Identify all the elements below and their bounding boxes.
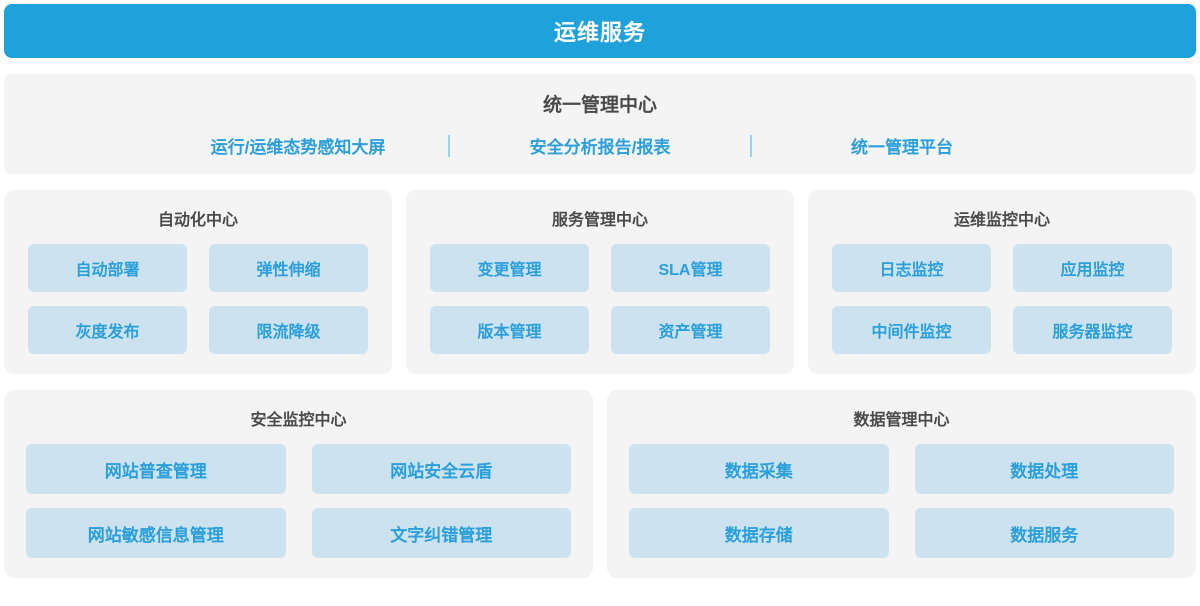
chip-data-processing[interactable]: 数据处理	[915, 444, 1175, 494]
unified-management-title: 统一管理中心	[543, 90, 657, 117]
card-title: 运维监控中心	[832, 206, 1172, 230]
chip-website-sensitive-info-management[interactable]: 网站敏感信息管理	[26, 508, 286, 558]
secondary-center-row: 安全监控中心 网站普查管理 网站安全云盾 网站敏感信息管理 文字纠错管理 数据管…	[4, 390, 1196, 578]
chip-data-collection[interactable]: 数据采集	[629, 444, 889, 494]
chip-version-management[interactable]: 版本管理	[430, 306, 589, 354]
unified-link-security-report[interactable]: 安全分析报告/报表	[450, 133, 750, 158]
chip-data-service[interactable]: 数据服务	[915, 508, 1175, 558]
chip-auto-deploy[interactable]: 自动部署	[28, 244, 187, 292]
unified-management-banner: 统一管理中心 运行/运维态势感知大屏 安全分析报告/报表 统一管理平台	[4, 74, 1196, 174]
chip-server-monitoring[interactable]: 服务器监控	[1013, 306, 1172, 354]
card-title: 安全监控中心	[26, 406, 571, 430]
unified-link-management-platform[interactable]: 统一管理平台	[752, 133, 1052, 158]
chip-website-security-cloud-shield[interactable]: 网站安全云盾	[312, 444, 572, 494]
chip-gray-release[interactable]: 灰度发布	[28, 306, 187, 354]
chip-grid: 网站普查管理 网站安全云盾 网站敏感信息管理 文字纠错管理	[26, 444, 571, 558]
chip-grid: 自动部署 弹性伸缩 灰度发布 限流降级	[28, 244, 368, 354]
unified-link-situation-dashboard[interactable]: 运行/运维态势感知大屏	[148, 133, 448, 158]
page-header: 运维服务	[4, 4, 1196, 58]
page-title: 运维服务	[554, 15, 646, 47]
chip-website-census-management[interactable]: 网站普查管理	[26, 444, 286, 494]
chip-grid: 变更管理 SLA管理 版本管理 资产管理	[430, 244, 770, 354]
chip-log-monitoring[interactable]: 日志监控	[832, 244, 991, 292]
card-ops-monitoring-center: 运维监控中心 日志监控 应用监控 中间件监控 服务器监控	[808, 190, 1196, 374]
chip-rate-limit-degrade[interactable]: 限流降级	[209, 306, 368, 354]
chip-grid: 数据采集 数据处理 数据存储 数据服务	[629, 444, 1174, 558]
chip-middleware-monitoring[interactable]: 中间件监控	[832, 306, 991, 354]
card-service-management-center: 服务管理中心 变更管理 SLA管理 版本管理 资产管理	[406, 190, 794, 374]
chip-text-correction-management[interactable]: 文字纠错管理	[312, 508, 572, 558]
chip-data-storage[interactable]: 数据存储	[629, 508, 889, 558]
unified-management-links: 运行/运维态势感知大屏 安全分析报告/报表 统一管理平台	[4, 133, 1196, 158]
card-automation-center: 自动化中心 自动部署 弹性伸缩 灰度发布 限流降级	[4, 190, 392, 374]
chip-sla-management[interactable]: SLA管理	[611, 244, 770, 292]
card-data-management-center: 数据管理中心 数据采集 数据处理 数据存储 数据服务	[607, 390, 1196, 578]
ops-service-architecture-page: 运维服务 统一管理中心 运行/运维态势感知大屏 安全分析报告/报表 统一管理平台…	[0, 4, 1200, 606]
card-security-monitoring-center: 安全监控中心 网站普查管理 网站安全云盾 网站敏感信息管理 文字纠错管理	[4, 390, 593, 578]
card-title: 服务管理中心	[430, 206, 770, 230]
primary-center-row: 自动化中心 自动部署 弹性伸缩 灰度发布 限流降级 服务管理中心 变更管理 SL…	[4, 190, 1196, 374]
chip-grid: 日志监控 应用监控 中间件监控 服务器监控	[832, 244, 1172, 354]
card-title: 自动化中心	[28, 206, 368, 230]
chip-elastic-scaling[interactable]: 弹性伸缩	[209, 244, 368, 292]
card-title: 数据管理中心	[629, 406, 1174, 430]
chip-asset-management[interactable]: 资产管理	[611, 306, 770, 354]
chip-change-management[interactable]: 变更管理	[430, 244, 589, 292]
chip-application-monitoring[interactable]: 应用监控	[1013, 244, 1172, 292]
